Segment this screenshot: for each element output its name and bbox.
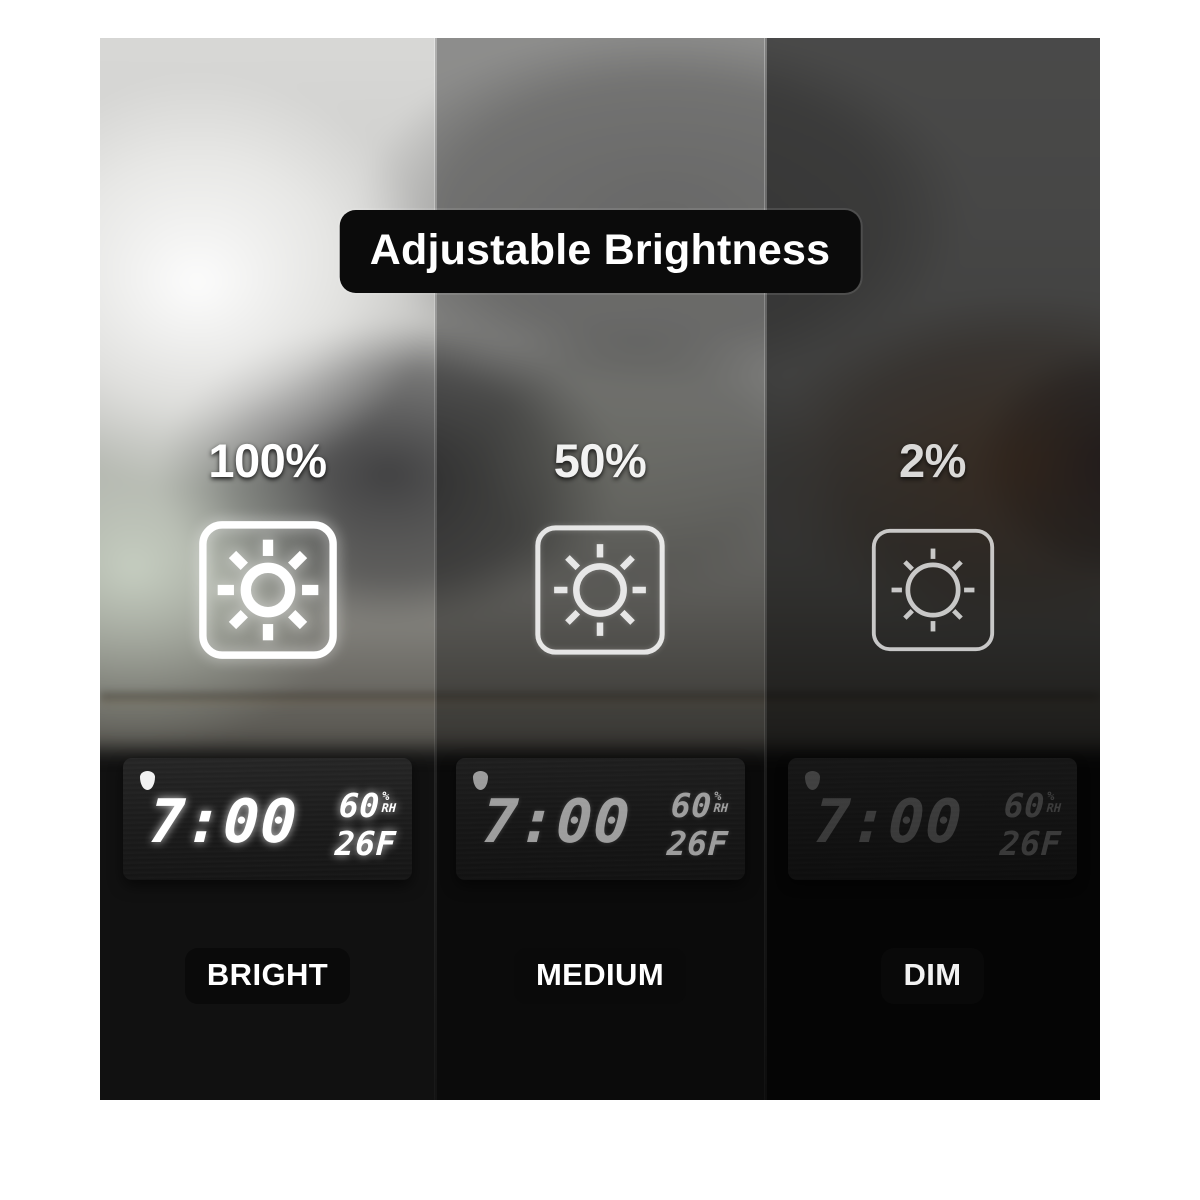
percent-label-dim: 2% — [899, 433, 966, 488]
photo-canvas: Adjustable Brightness 100% — [100, 38, 1100, 1100]
lcd-temperature: 26F — [667, 827, 730, 860]
lcd-humidity-value: 60 — [670, 789, 712, 822]
column-dim: 2% — [765, 38, 1100, 1100]
panel-label-bright: BRIGHT — [185, 948, 350, 1004]
lcd-humidity-rh: RH — [714, 802, 729, 814]
lcd-humidity: 60 % RH — [670, 789, 729, 822]
lcd-sensor-readouts: 60 % RH 26F — [1000, 789, 1061, 860]
lcd-humidity-rh: RH — [381, 802, 396, 814]
lcd-temperature: 26F — [334, 827, 397, 860]
clock-device-dim: 7:00 60 % RH 26F — [788, 758, 1077, 880]
brightness-medium-icon — [526, 516, 674, 664]
lcd-humidity-percent: % — [714, 790, 722, 802]
column-bright: 100% — [100, 38, 435, 1100]
lcd-display-bright: 7:00 60 % RH 26F — [123, 758, 412, 880]
panel-label-dim: DIM — [881, 948, 983, 1004]
percent-label-medium: 50% — [554, 433, 647, 488]
panel-label-medium: MEDIUM — [514, 948, 686, 1004]
lcd-humidity-rh: RH — [1046, 802, 1061, 814]
lcd-display-dim: 7:00 60 % RH 26F — [788, 758, 1077, 880]
brightness-columns: 100% — [100, 38, 1100, 1100]
lcd-humidity: 60 % RH — [1003, 789, 1062, 822]
lcd-humidity-percent: % — [1047, 790, 1055, 802]
lcd-time: 7:00 — [147, 792, 299, 852]
lcd-temperature: 26F — [999, 827, 1062, 860]
lcd-time: 7:00 — [812, 792, 964, 852]
clock-device-medium: 7:00 60 % RH 26F — [456, 758, 745, 880]
lcd-sensor-readouts: 60 % RH 26F — [335, 789, 396, 860]
lcd-display-medium: 7:00 60 % RH 26F — [456, 758, 745, 880]
column-medium: 50% — [435, 38, 765, 1100]
overlay-content: Adjustable Brightness 100% — [100, 38, 1100, 1100]
lcd-time: 7:00 — [480, 792, 632, 852]
percent-label-bright: 100% — [208, 433, 326, 488]
lcd-sensor-readouts: 60 % RH 26F — [667, 789, 728, 860]
lcd-humidity-unit: % RH — [1046, 790, 1062, 814]
product-feature-image: Adjustable Brightness 100% — [0, 0, 1200, 1200]
lcd-humidity-percent: % — [382, 790, 390, 802]
clock-device-bright: 7:00 60 % RH 26F — [123, 758, 412, 880]
lcd-humidity-unit: % RH — [381, 790, 397, 814]
brightness-high-icon — [194, 516, 342, 664]
lcd-humidity: 60 % RH — [338, 789, 397, 822]
brightness-low-icon — [859, 516, 1007, 664]
lcd-humidity-unit: % RH — [714, 790, 730, 814]
lcd-humidity-value: 60 — [338, 789, 380, 822]
lcd-humidity-value: 60 — [1003, 789, 1045, 822]
